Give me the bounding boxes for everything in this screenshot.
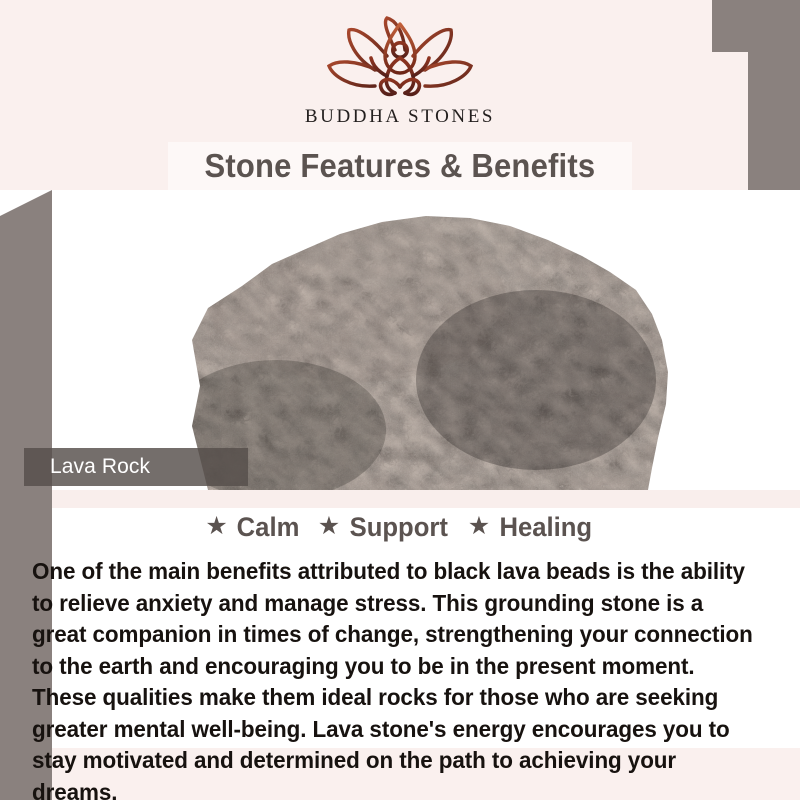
star-icon: ★ — [468, 514, 490, 539]
benefit-item-support: ★ Support — [318, 512, 451, 543]
lotus-meditation-logo — [325, 16, 475, 102]
star-icon: ★ — [318, 514, 340, 539]
photo-caption-text: Lava Rock — [50, 455, 150, 479]
benefit-item-healing: ★ Healing — [468, 512, 595, 543]
benefits-row: ★ Calm ★ Support ★ Healing — [0, 512, 800, 543]
body-paragraph: One of the main benefits attributed to b… — [32, 556, 758, 800]
page-title: Stone Features & Benefits — [205, 147, 596, 185]
lava-rock-photo — [96, 190, 716, 490]
photo-area — [0, 190, 800, 490]
header: BUDDHA STONES — [0, 0, 800, 145]
benefit-label-support: Support — [350, 512, 448, 543]
brand-name: BUDDHA STONES — [305, 106, 495, 128]
photo-caption-bar: Lava Rock — [24, 448, 248, 486]
benefit-item-calm: ★ Calm — [205, 512, 300, 543]
benefit-label-healing: Healing — [500, 512, 593, 543]
star-icon: ★ — [205, 514, 227, 539]
title-banner: Stone Features & Benefits — [168, 142, 632, 190]
section-divider — [0, 490, 800, 508]
infographic-card: BUDDHA STONES Stone Features & Benefits … — [0, 0, 800, 800]
benefit-label-calm: Calm — [236, 512, 299, 543]
